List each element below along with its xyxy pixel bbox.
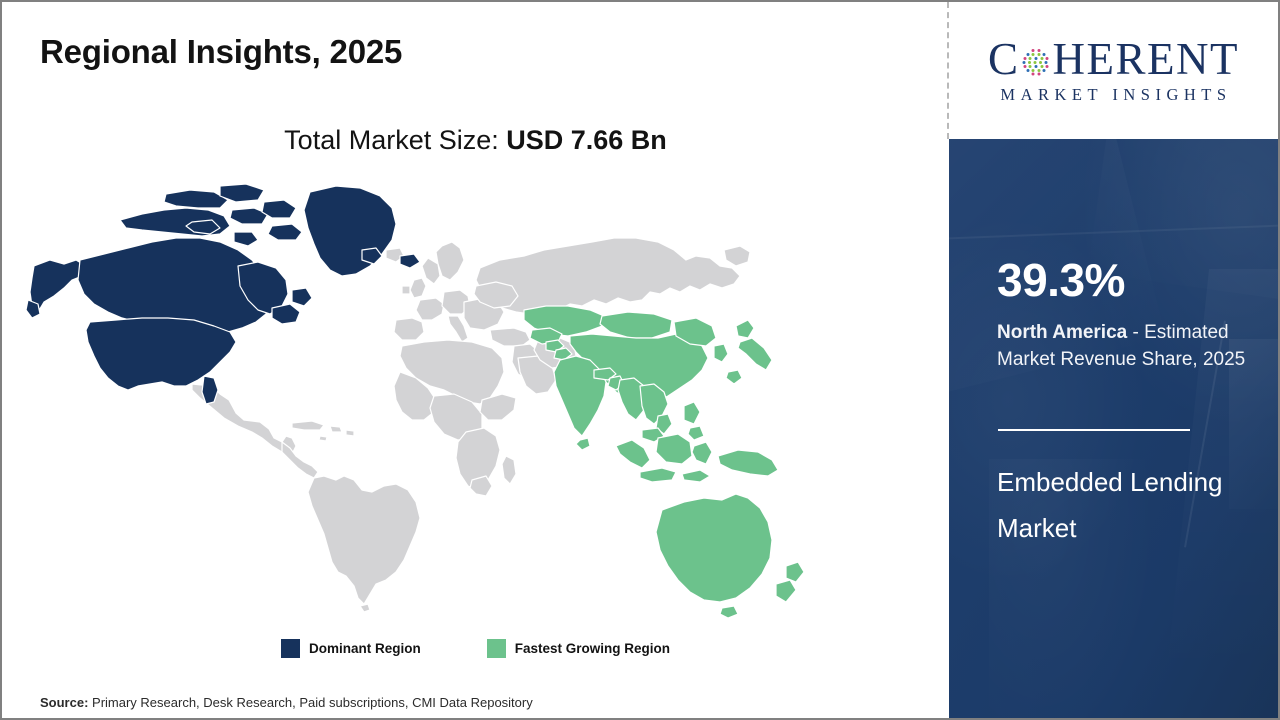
world-map-svg (24, 180, 834, 620)
brand-logo-letters-herent: HERENT (1053, 37, 1239, 82)
revenue-share-region-name: North America (997, 322, 1127, 343)
horizontal-rule (998, 429, 1190, 431)
total-market-size-value: USD 7.66 Bn (506, 125, 667, 155)
total-market-size-label: Total Market Size: (284, 125, 506, 155)
regional-stat-panel: 39.3% North America - Estimated Market R… (949, 139, 1278, 718)
left-content-pane: Regional Insights, 2025 Total Market Siz… (2, 2, 949, 718)
right-side-panel: C (949, 2, 1278, 718)
total-market-size: Total Market Size: USD 7.66 Bn (2, 125, 949, 156)
map-region-dominant-north-america (26, 184, 420, 404)
map-region-fastest-growing-asia-pacific (524, 306, 804, 618)
source-label: Source: (40, 695, 88, 710)
legend-label-dominant: Dominant Region (309, 641, 421, 656)
square-swatch-icon (281, 639, 300, 658)
square-swatch-icon (487, 639, 506, 658)
map-legend: Dominant Region Fastest Growing Region (2, 639, 949, 658)
revenue-share-percentage: 39.3% (997, 257, 1125, 303)
regional-insights-infographic: Regional Insights, 2025 Total Market Siz… (0, 0, 1280, 720)
world-map (24, 180, 834, 620)
brand-logo-tagline: MARKET INSIGHTS (995, 85, 1231, 105)
dotted-globe-icon (1020, 46, 1052, 78)
brand-logo-letter-c: C (988, 37, 1020, 82)
page-title: Regional Insights, 2025 (40, 33, 402, 71)
source-text: Primary Research, Desk Research, Paid su… (88, 695, 532, 710)
decorative-shape (949, 225, 1278, 240)
legend-item-fastest-growing: Fastest Growing Region (487, 639, 670, 658)
legend-item-dominant: Dominant Region (281, 639, 421, 658)
market-name: Embedded Lending Market (997, 459, 1247, 552)
legend-label-fastest-growing: Fastest Growing Region (515, 641, 670, 656)
brand-logo-wordmark: C (988, 37, 1239, 83)
brand-logo: C (949, 2, 1278, 139)
revenue-share-description: North America - Estimated Market Revenue… (997, 319, 1263, 374)
source-footnote: Source: Primary Research, Desk Research,… (40, 695, 533, 710)
